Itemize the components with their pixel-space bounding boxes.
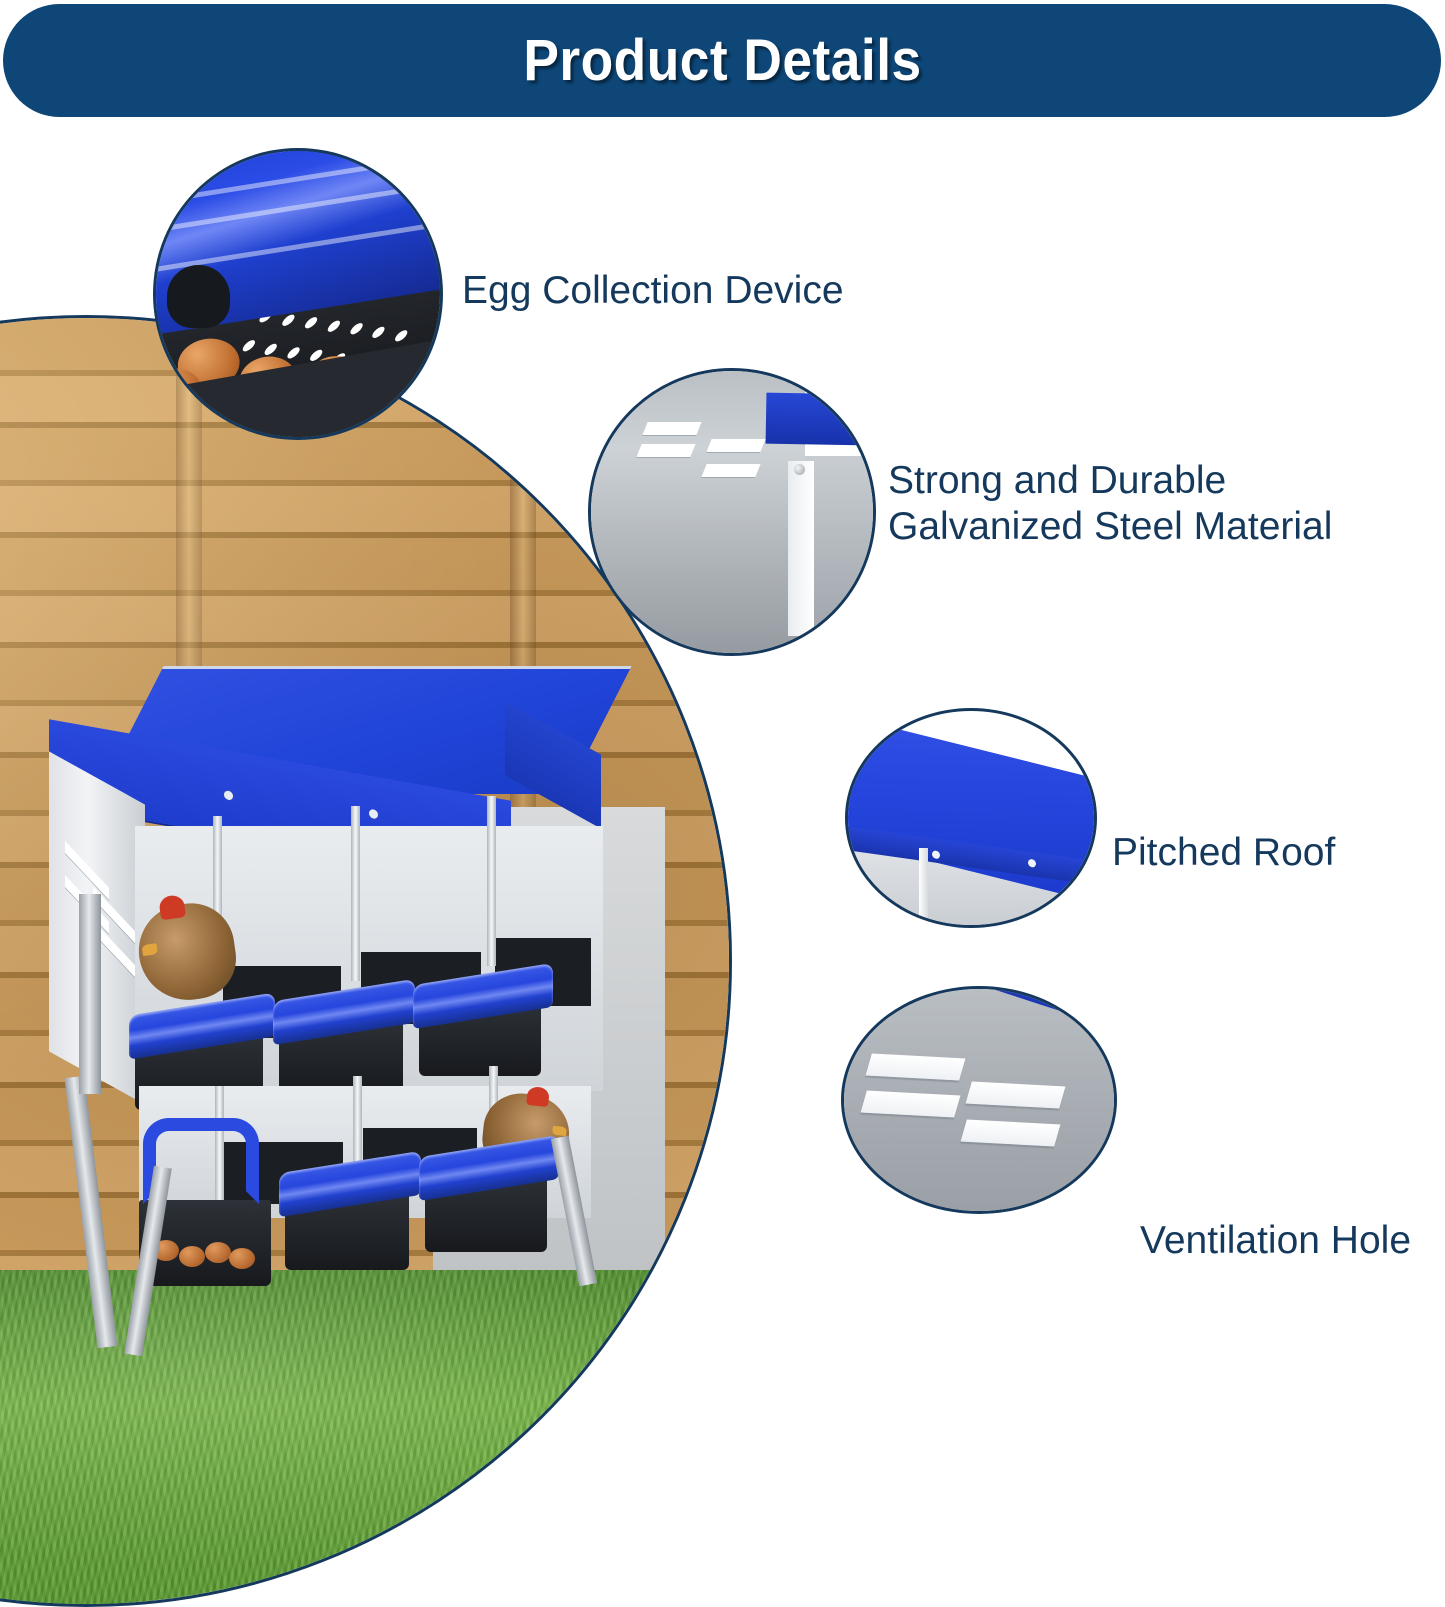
nesting-box-product	[43, 666, 703, 1356]
detail-image-egg-collection	[153, 148, 443, 440]
page-title: Product Details	[523, 27, 921, 94]
callout-label-galvanized-steel: Strong and Durable Galvanized Steel Mate…	[888, 458, 1332, 550]
lid-hinge-knob	[167, 265, 229, 328]
detail-image-pitched-roof	[845, 708, 1097, 928]
ventilation-slot	[866, 1053, 966, 1080]
roof-support-post	[919, 848, 928, 928]
callout-label-pitched-roof: Pitched Roof	[1112, 830, 1335, 876]
callout-label-ventilation-hole: Ventilation Hole	[1140, 1218, 1411, 1264]
left-upright-post	[79, 894, 101, 1094]
blue-roof-fascia	[765, 392, 876, 445]
roof-screw-icon	[794, 464, 805, 475]
steel-back-panel	[805, 456, 876, 642]
detail-image-galvanized-steel	[588, 368, 876, 656]
callout-label-egg-collection: Egg Collection Device	[462, 268, 844, 314]
support-leg-left	[65, 1076, 118, 1348]
detail-image-ventilation-hole	[841, 986, 1117, 1214]
steel-corner-post	[788, 461, 813, 636]
page-title-banner: Product Details	[3, 4, 1441, 117]
